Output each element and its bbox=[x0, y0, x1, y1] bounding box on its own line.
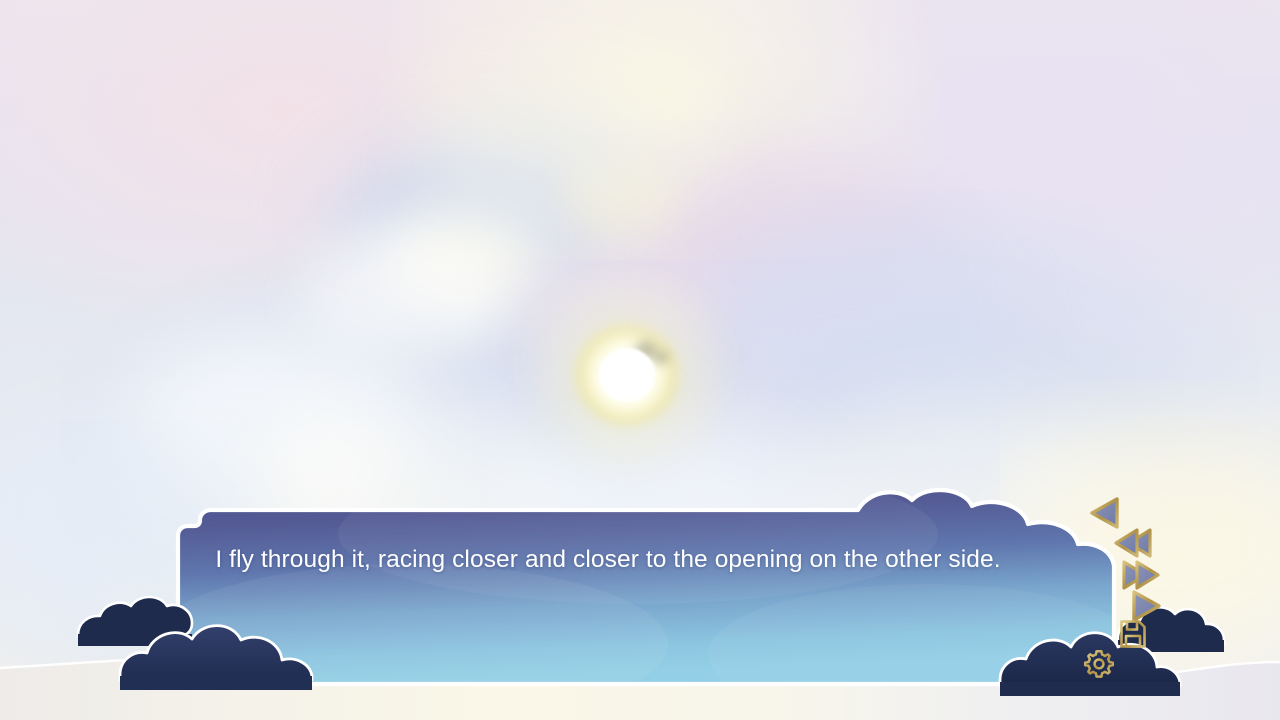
game-scene: I fly through it, racing closer and clos… bbox=[0, 0, 1280, 720]
floppy-disk-icon bbox=[1122, 622, 1145, 647]
triangle-right-icon bbox=[1134, 592, 1159, 620]
save-button[interactable] bbox=[1118, 618, 1148, 650]
settings-button[interactable] bbox=[1083, 648, 1115, 680]
gear-icon bbox=[1085, 651, 1113, 676]
double-chevron-right-icon bbox=[1124, 562, 1158, 588]
double-chevron-left-icon bbox=[1116, 530, 1150, 556]
triangle-left-icon bbox=[1092, 499, 1117, 527]
dialogue-box[interactable]: I fly through it, racing closer and clos… bbox=[168, 494, 1128, 694]
